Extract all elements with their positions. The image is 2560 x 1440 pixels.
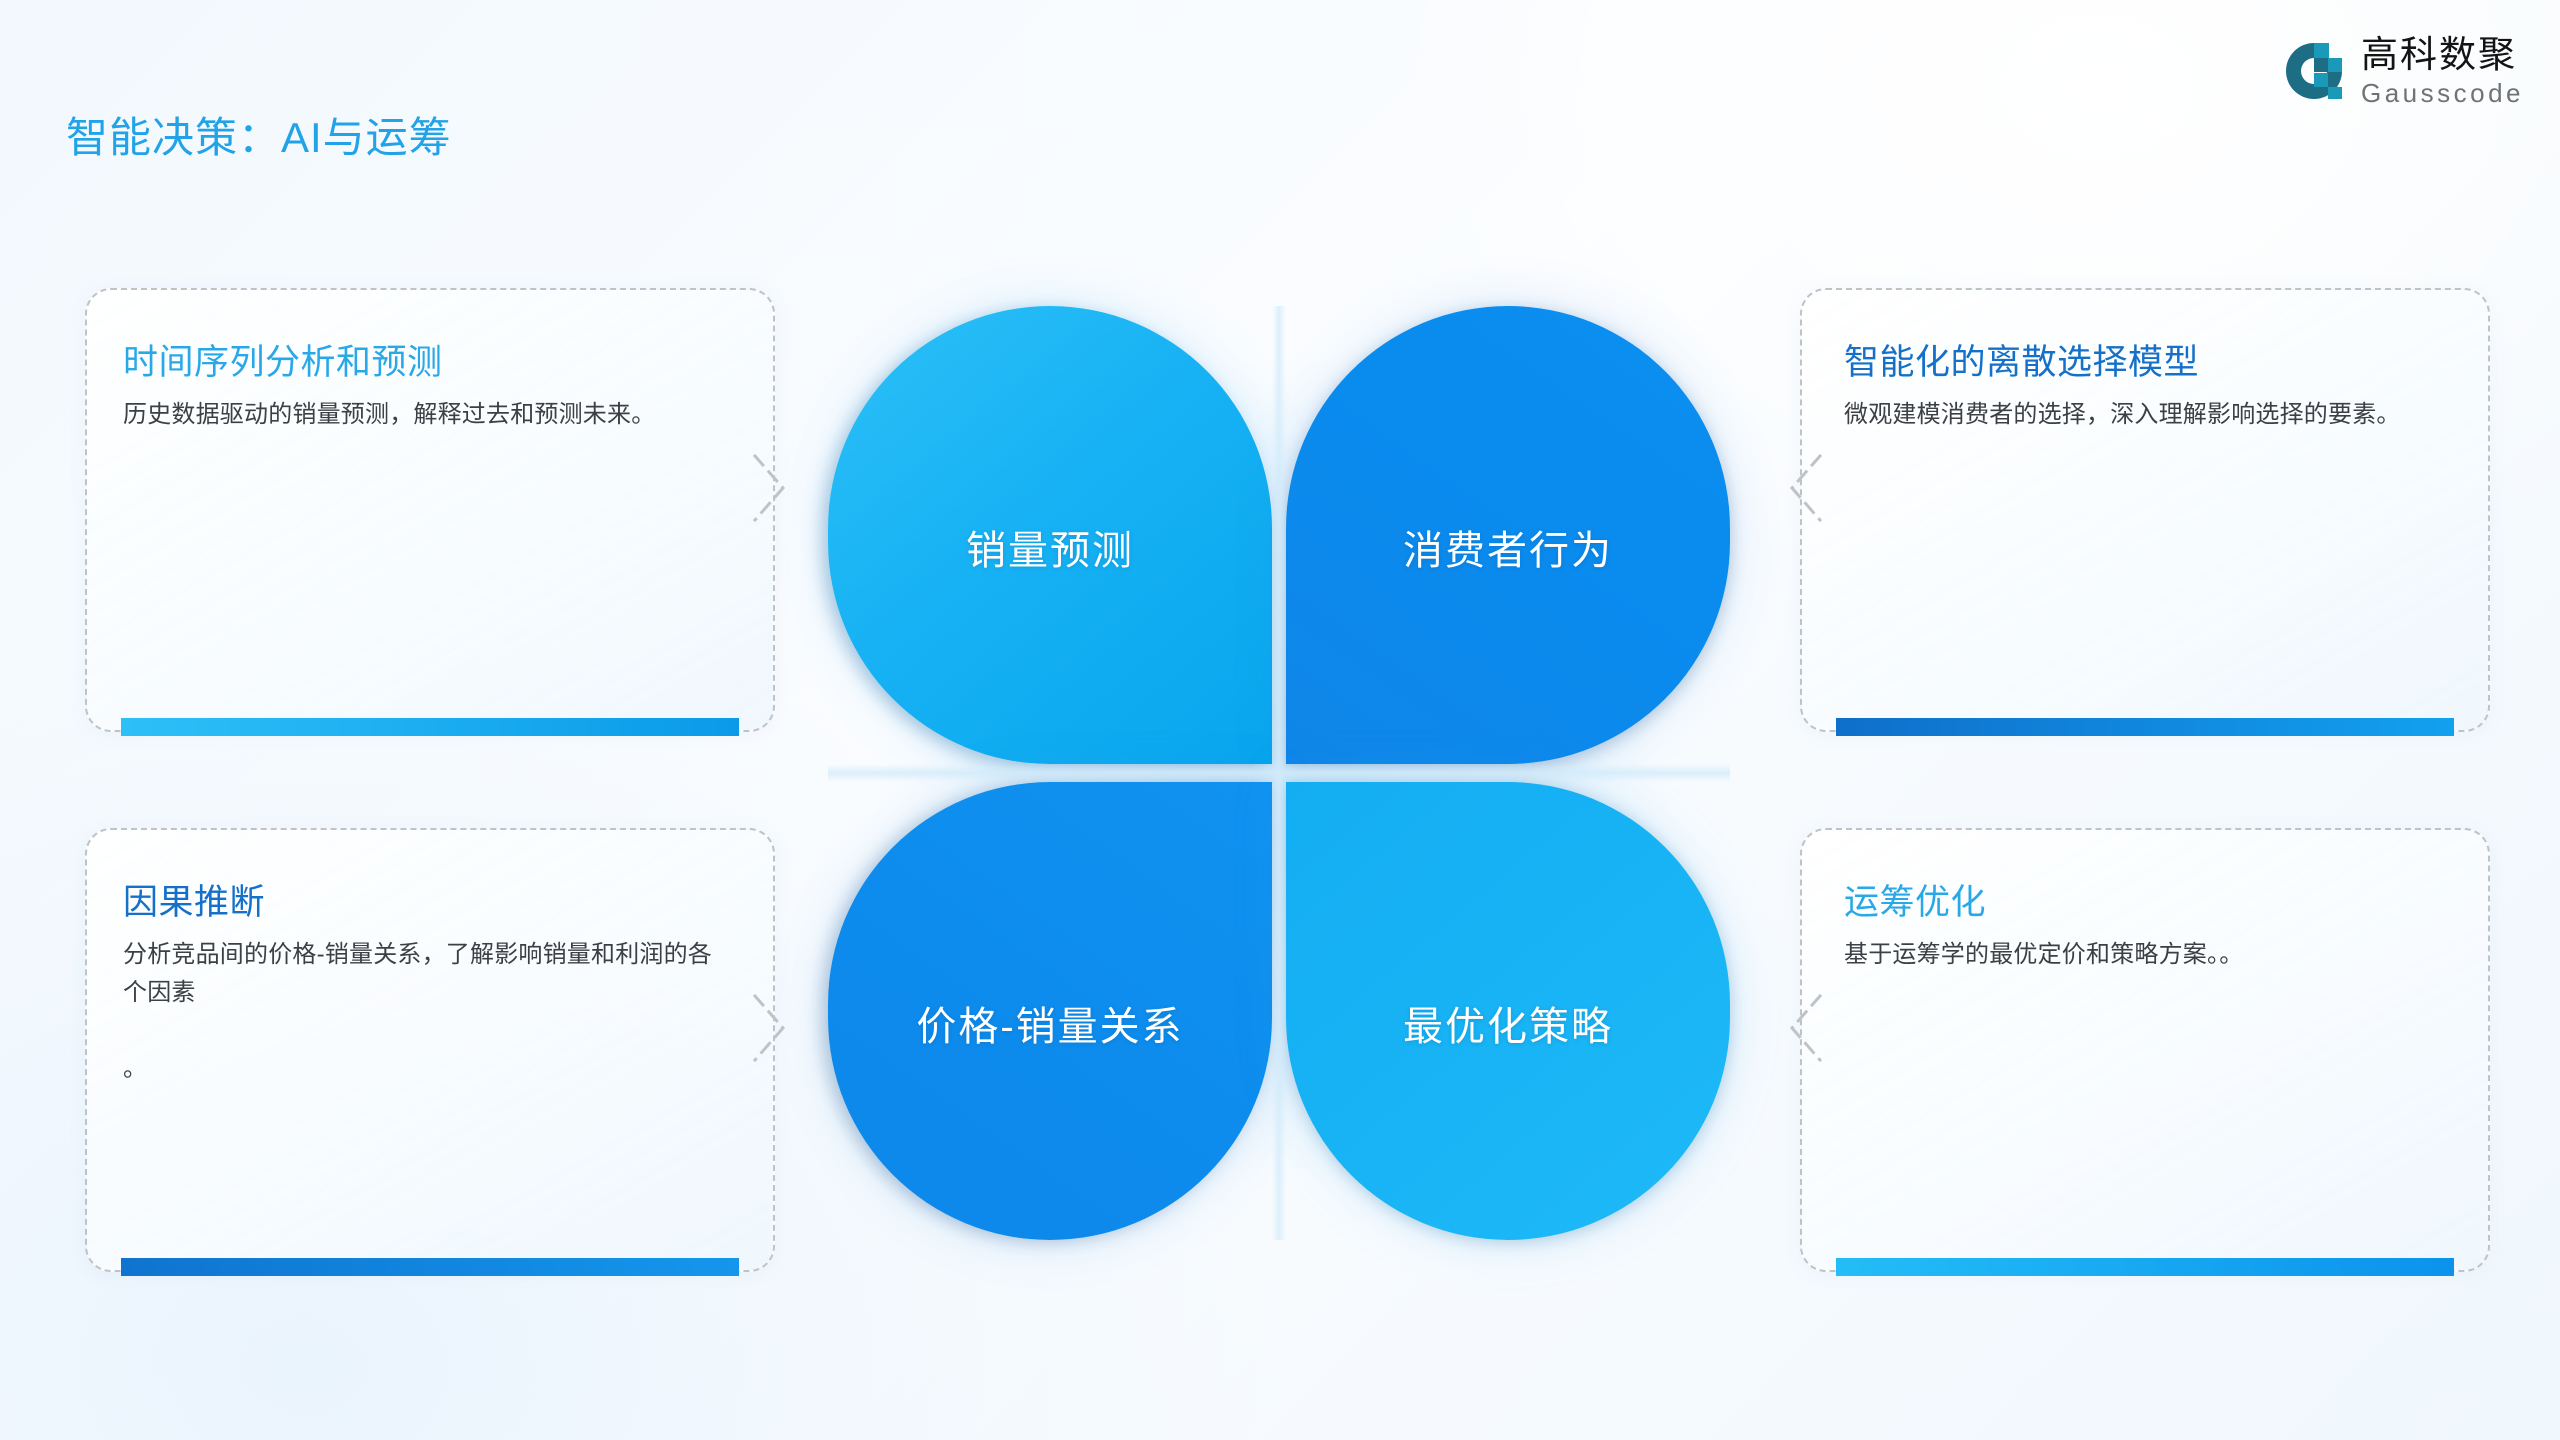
slide-canvas: 智能决策：AI与运筹 高科数聚 Gausscode 销量预测 消费者行为: [0, 0, 2560, 1440]
petal-consumer-behavior[interactable]: 消费者行为: [1286, 306, 1730, 764]
card-body: 分析竞品间的价格-销量关系，了解影响销量和利润的各个因素 。: [123, 936, 733, 1088]
chevron-right-icon: [753, 450, 797, 526]
card-title: 运筹优化: [1844, 874, 1986, 925]
gausscode-logo-icon: [2283, 40, 2345, 102]
card-discrete-choice[interactable]: 智能化的离散选择模型 微观建模消费者的选择，深入理解影响选择的要素。: [1800, 288, 2490, 732]
petal-price-volume-relation[interactable]: 价格-销量关系: [828, 782, 1272, 1240]
chevron-left-icon: [1778, 450, 1822, 526]
card-accent-bar: [1836, 1258, 2454, 1276]
card-title: 因果推断: [123, 874, 265, 925]
petal-seam-vertical: [1272, 306, 1286, 1240]
chevron-right-icon: [753, 990, 797, 1066]
chevron-left-icon: [1778, 990, 1822, 1066]
petal-label: 最优化策略: [1403, 994, 1613, 1052]
petal-label: 价格-销量关系: [916, 994, 1183, 1052]
logo-wordmark: 高科数聚 Gausscode: [2361, 36, 2524, 106]
petal-sales-forecast[interactable]: 销量预测: [828, 306, 1272, 764]
card-body: 历史数据驱动的销量预测，解释过去和预测未来。: [123, 396, 733, 434]
card-operations-optimization[interactable]: 运筹优化 基于运筹学的最优定价和策略方案。。: [1800, 828, 2490, 1272]
petal-optimization-strategy[interactable]: 最优化策略: [1286, 782, 1730, 1240]
petal-seam-horizontal: [828, 764, 1730, 782]
card-title: 时间序列分析和预测: [123, 334, 443, 385]
logo-text-cn: 高科数聚: [2361, 36, 2524, 73]
petal-label: 销量预测: [966, 518, 1134, 576]
clover-diagram: 销量预测 消费者行为 价格-销量关系 最优化策略: [828, 306, 1730, 1240]
logo-text-en: Gausscode: [2361, 80, 2524, 106]
page-title: 智能决策：AI与运筹: [66, 104, 452, 165]
card-causal-inference[interactable]: 因果推断 分析竞品间的价格-销量关系，了解影响销量和利润的各个因素 。: [85, 828, 775, 1272]
card-accent-bar: [121, 1258, 739, 1276]
brand-logo: 高科数聚 Gausscode: [2283, 36, 2524, 106]
card-accent-bar: [1836, 718, 2454, 736]
card-accent-bar: [121, 718, 739, 736]
card-time-series[interactable]: 时间序列分析和预测 历史数据驱动的销量预测，解释过去和预测未来。: [85, 288, 775, 732]
card-body: 微观建模消费者的选择，深入理解影响选择的要素。: [1844, 396, 2444, 434]
petal-label: 消费者行为: [1403, 518, 1613, 576]
card-title: 智能化的离散选择模型: [1844, 334, 2199, 385]
card-body: 基于运筹学的最优定价和策略方案。。: [1844, 936, 2444, 974]
